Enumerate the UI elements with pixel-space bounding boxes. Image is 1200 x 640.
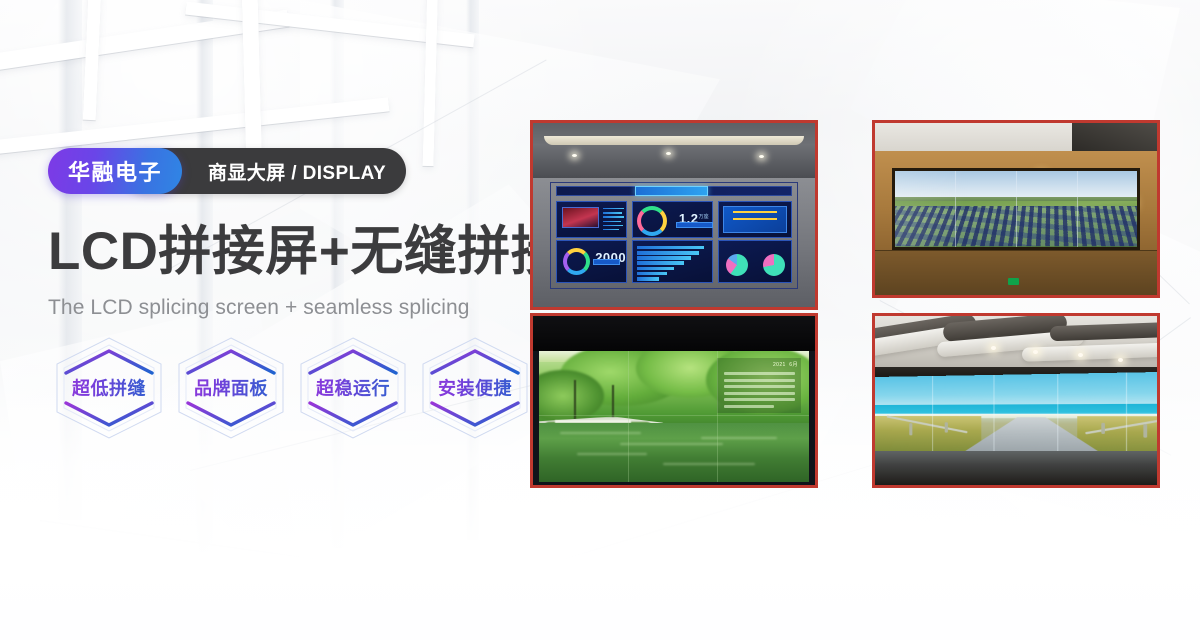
photo-scene xyxy=(875,316,1157,485)
badge-row: 商显大屏 / DISPLAY 华融电子 xyxy=(48,148,182,194)
gallery-photo-willow-lake[interactable]: 2021 6月 xyxy=(530,313,818,488)
feature-item: 安装便捷 xyxy=(416,332,534,444)
banner-stage: 商显大屏 / DISPLAY 华融电子 LCD拼接屏+无缝拼接 The LCD … xyxy=(0,0,1200,640)
photo-scene: 2021 6月 xyxy=(533,316,815,485)
brand-badge: 华融电子 xyxy=(48,148,182,194)
photo-scene: 1.2 万座 2000 xyxy=(533,123,815,307)
feature-item: 超低拼缝 xyxy=(50,332,168,444)
page-subtitle: The LCD splicing screen + seamless splic… xyxy=(48,296,470,320)
feature-item: 超稳运行 xyxy=(294,332,412,444)
gallery-photo-beach-boardwalk[interactable] xyxy=(872,313,1160,488)
page-title: LCD拼接屏+无缝拼接 xyxy=(48,224,564,280)
photo-scene xyxy=(875,123,1157,295)
feature-list: 超低拼缝 品牌面板 超稳运行 xyxy=(50,332,534,444)
gallery-photo-solar-farm[interactable] xyxy=(872,120,1160,298)
feature-label: 品牌面板 xyxy=(172,374,290,400)
gallery-photo-data-dashboard[interactable]: 1.2 万座 2000 xyxy=(530,120,818,310)
feature-label: 超稳运行 xyxy=(294,374,412,400)
feature-label: 安装便捷 xyxy=(416,374,534,400)
banner-copy: 商显大屏 / DISPLAY 华融电子 LCD拼接屏+无缝拼接 The LCD … xyxy=(48,0,518,640)
feature-label: 超低拼缝 xyxy=(50,374,168,400)
feature-item: 品牌面板 xyxy=(172,332,290,444)
